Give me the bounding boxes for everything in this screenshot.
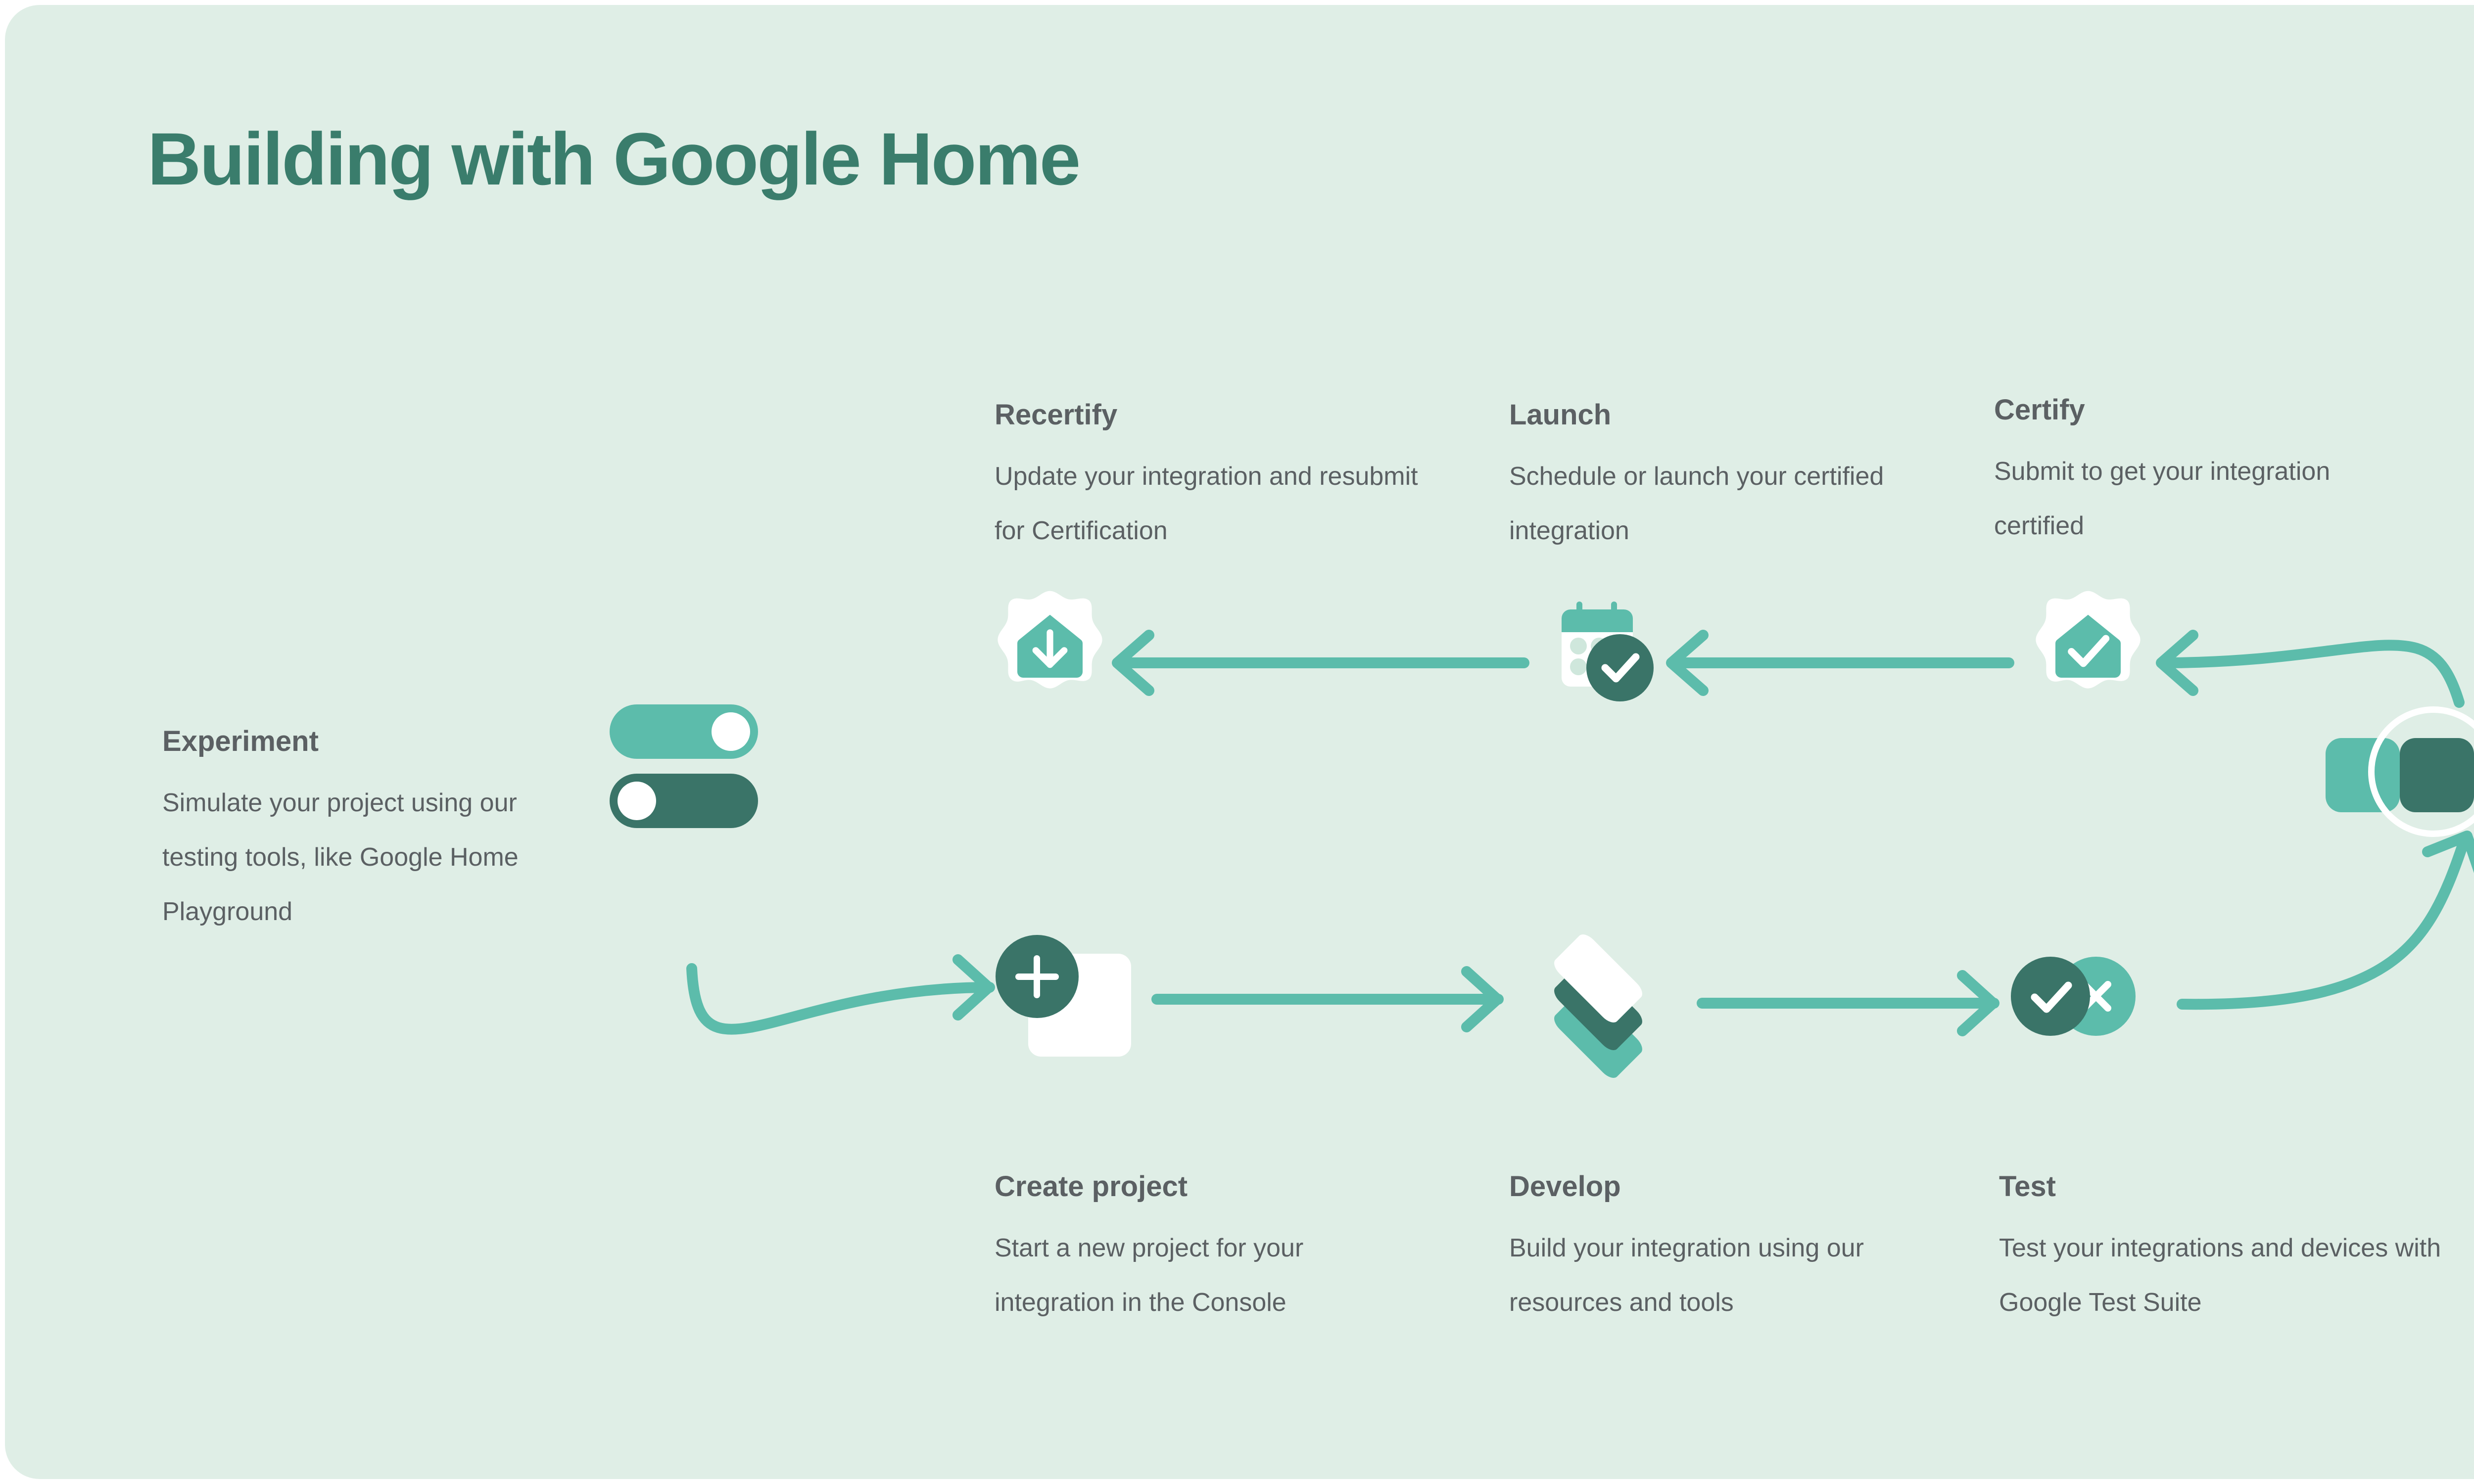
- connector-launch-to-recertify: [1117, 635, 1524, 691]
- step-experiment[interactable]: Experiment Simulate your project using o…: [162, 727, 598, 939]
- connector-certify-to-launch: [1671, 635, 2009, 691]
- certified-badge-icon: [2029, 589, 2147, 707]
- step-certify-description: Submit to get your integration certified: [1994, 444, 2370, 553]
- scallop-badge-shape: [991, 589, 1109, 707]
- step-create-project-heading: Create project: [995, 1172, 1420, 1201]
- step-test-heading: Test: [1999, 1172, 2444, 1201]
- page-title: Building with Google Home: [147, 122, 1079, 196]
- step-experiment-description: Simulate your project using our testing …: [162, 776, 598, 939]
- diagram-board: Building with Google Home: [5, 5, 2474, 1479]
- test-result-circles: [2009, 955, 2138, 1039]
- step-certify[interactable]: Certify Submit to get your integration c…: [1994, 396, 2370, 553]
- connector-experiment-to-create-project: [692, 960, 990, 1029]
- step-experiment-heading: Experiment: [162, 727, 598, 756]
- step-recertify[interactable]: Recertify Update your integration and re…: [995, 401, 1420, 558]
- step-launch[interactable]: Launch Schedule or launch your certified…: [1509, 401, 1905, 558]
- step-test-description: Test your integrations and devices with …: [1999, 1221, 2444, 1330]
- step-recertify-heading: Recertify: [995, 401, 1420, 429]
- screenshot-canvas: Building with Google Home: [0, 0, 2474, 1484]
- step-launch-heading: Launch: [1509, 401, 1905, 429]
- connector-create-project-to-develop: [1157, 972, 1498, 1027]
- step-develop-description: Build your integration using our resourc…: [1509, 1221, 1935, 1330]
- step-certify-heading: Certify: [1994, 396, 2370, 424]
- step-launch-description: Schedule or launch your certified integr…: [1509, 449, 1905, 558]
- step-create-project[interactable]: Create project Start a new project for y…: [995, 1172, 1420, 1330]
- plus-circle-icon: [996, 935, 1079, 1018]
- field-trial-devices-icon: [2326, 718, 2474, 832]
- step-test[interactable]: Test Test your integrations and devices …: [1999, 1172, 2444, 1330]
- calendar-check-icon: [1544, 599, 1672, 732]
- toggle-on-icon: [610, 704, 758, 759]
- step-develop-heading: Develop: [1509, 1172, 1935, 1201]
- check-circle-icon: [2011, 957, 2090, 1036]
- step-develop[interactable]: Develop Build your integration using our…: [1509, 1172, 1935, 1330]
- layers-icon: [1529, 935, 1667, 1059]
- step-recertify-description: Update your integration and resubmit for…: [995, 449, 1420, 558]
- check-circle-icon: [1586, 634, 1654, 701]
- connector-field-trial-to-certify: [2161, 635, 2459, 702]
- focus-ring-icon: [2368, 706, 2474, 837]
- toggle-switches-icon: [610, 704, 758, 828]
- add-project-icon: [996, 935, 1144, 1059]
- calendar-shape: [1544, 599, 1672, 732]
- recertify-badge-icon: [991, 589, 1109, 707]
- toggle-off-icon: [610, 774, 758, 828]
- toggle-knob: [712, 712, 750, 751]
- connector-develop-to-test: [1702, 975, 1994, 1031]
- toggle-knob: [618, 782, 656, 820]
- check-and-cross-icon: [2009, 955, 2138, 1039]
- scallop-badge-shape: [2029, 589, 2147, 707]
- connector-test-to-field-trial: [2182, 836, 2474, 1004]
- step-create-project-description: Start a new project for your integration…: [995, 1221, 1420, 1330]
